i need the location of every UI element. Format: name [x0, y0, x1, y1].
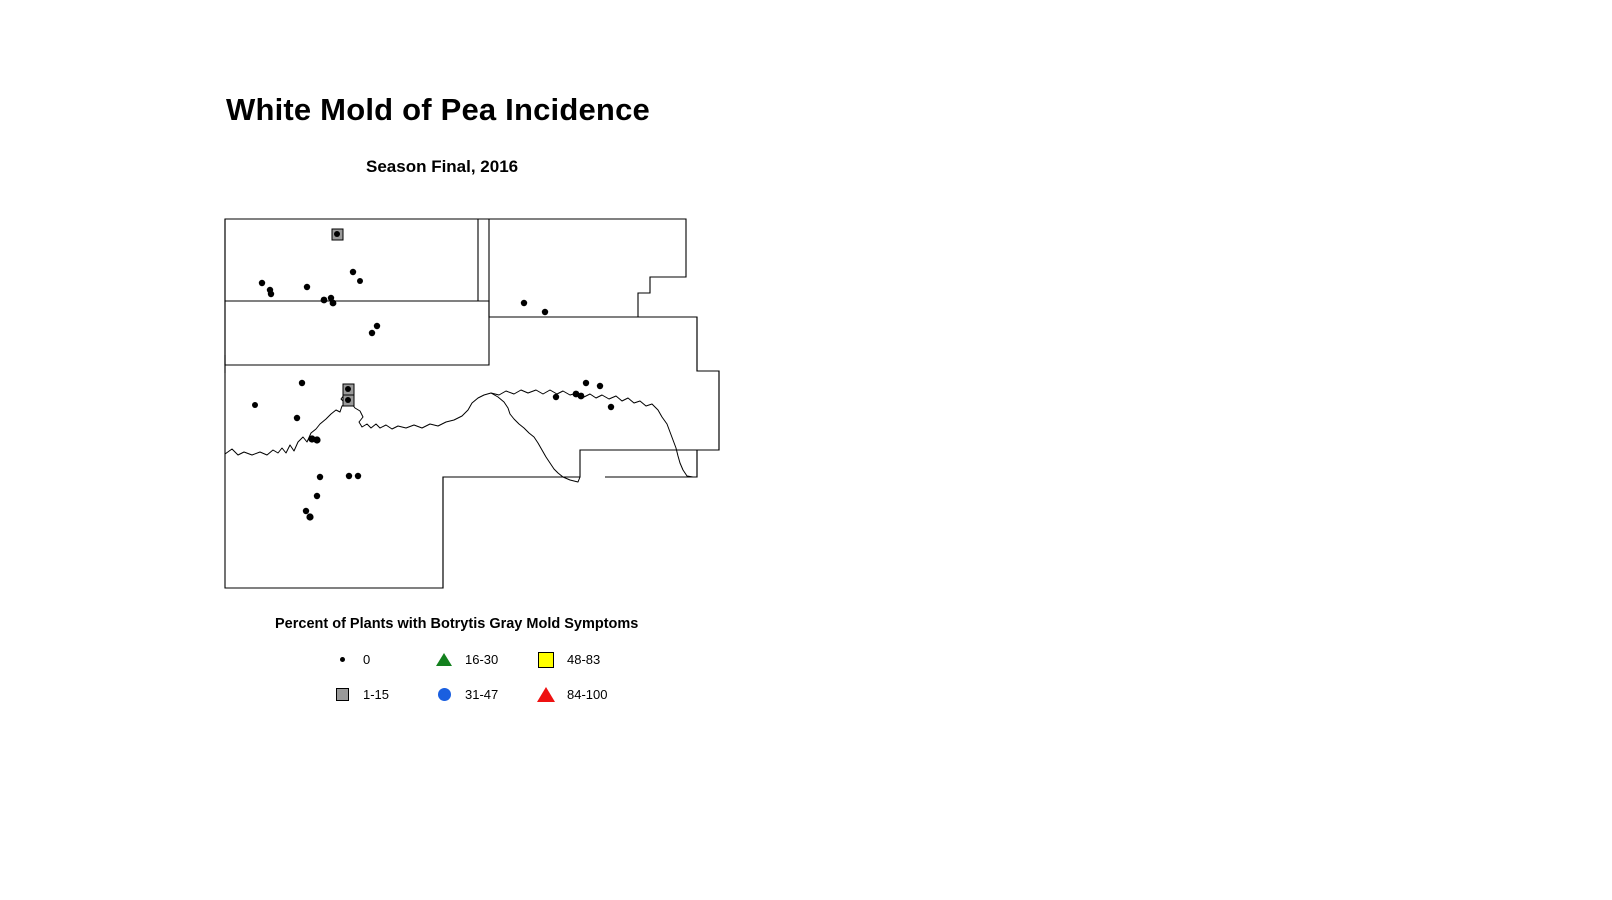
map-point-dot[interactable] [578, 393, 585, 400]
map-point-dot[interactable] [521, 300, 527, 306]
boundary-west-central-county [225, 301, 489, 365]
green-triangle-icon [432, 648, 456, 672]
map-point-dot[interactable] [355, 473, 361, 479]
map-point-dot[interactable] [345, 397, 351, 403]
boundary-region-outline [225, 219, 697, 588]
legend-item-label: 0 [363, 652, 370, 667]
map-figure: White Mold of Pea Incidence Season Final… [0, 0, 1612, 900]
map-panel [210, 205, 750, 615]
page-subtitle: Season Final, 2016 [366, 157, 518, 177]
map-point-dot[interactable] [583, 380, 589, 386]
map-point-dot[interactable] [321, 297, 328, 304]
map-point-dot[interactable] [294, 415, 300, 421]
legend-title: Percent of Plants with Botrytis Gray Mol… [275, 616, 638, 632]
legend-item-label: 31-47 [465, 687, 498, 702]
map-point-dot[interactable] [597, 383, 603, 389]
map-point-dot[interactable] [330, 300, 337, 307]
map-point-dot[interactable] [299, 380, 305, 386]
legend-item-label: 1-15 [363, 687, 389, 702]
boundary-northeast-county [478, 219, 686, 317]
map-point-dot[interactable] [542, 309, 548, 315]
legend-row-top: 0 16-30 48-83 [330, 642, 690, 677]
gray-square-icon [330, 683, 354, 707]
legend-row-bottom: 1-15 31-47 84-100 [330, 677, 690, 712]
map-point-dot[interactable] [369, 330, 375, 336]
legend-item-1-15[interactable]: 1-15 [330, 677, 432, 712]
map-point-dot[interactable] [317, 474, 323, 480]
river-south-segment [491, 393, 580, 482]
map-point-dot[interactable] [374, 323, 380, 329]
map-point-dot[interactable] [259, 280, 265, 286]
legend-item-0[interactable]: 0 [330, 642, 432, 677]
map-point-dot[interactable] [306, 513, 313, 520]
map-point-dot[interactable] [252, 402, 258, 408]
small-black-dot-icon [330, 648, 354, 672]
map-point-dot[interactable] [553, 394, 559, 400]
map-point-dot[interactable] [346, 473, 352, 479]
blue-circle-icon [432, 683, 456, 707]
legend-item-84-100[interactable]: 84-100 [534, 677, 636, 712]
map-graphic [210, 205, 750, 615]
map-point-dot[interactable] [357, 278, 363, 284]
yellow-square-icon [534, 648, 558, 672]
map-legend: Percent of Plants with Botrytis Gray Mol… [255, 612, 695, 712]
map-point-dot[interactable] [303, 508, 309, 514]
map-point-dot[interactable] [350, 269, 356, 275]
map-point-dot[interactable] [313, 436, 320, 443]
map-point-dot[interactable] [268, 291, 274, 297]
boundary-east-outer [605, 317, 719, 477]
legend-item-label: 84-100 [567, 687, 607, 702]
map-point-dot[interactable] [314, 493, 320, 499]
river-west-segment [225, 390, 697, 477]
river-boundaries [225, 390, 697, 482]
map-point-dot[interactable] [345, 386, 351, 392]
boundary-northwest-county [225, 219, 489, 301]
map-point-dot[interactable] [608, 404, 614, 410]
red-triangle-icon [534, 683, 558, 707]
map-point-dot[interactable] [304, 284, 310, 290]
legend-items-grid: 0 16-30 48-83 1-15 31-47 [330, 642, 690, 712]
legend-item-48-83[interactable]: 48-83 [534, 642, 636, 677]
map-point-dot[interactable] [334, 231, 340, 237]
legend-item-label: 48-83 [567, 652, 600, 667]
legend-item-16-30[interactable]: 16-30 [432, 642, 534, 677]
boundary-south-outline [225, 477, 580, 588]
boundary-east-central-county [489, 317, 719, 477]
legend-item-31-47[interactable]: 31-47 [432, 677, 534, 712]
legend-item-label: 16-30 [465, 652, 498, 667]
page-title: White Mold of Pea Incidence [226, 92, 650, 128]
